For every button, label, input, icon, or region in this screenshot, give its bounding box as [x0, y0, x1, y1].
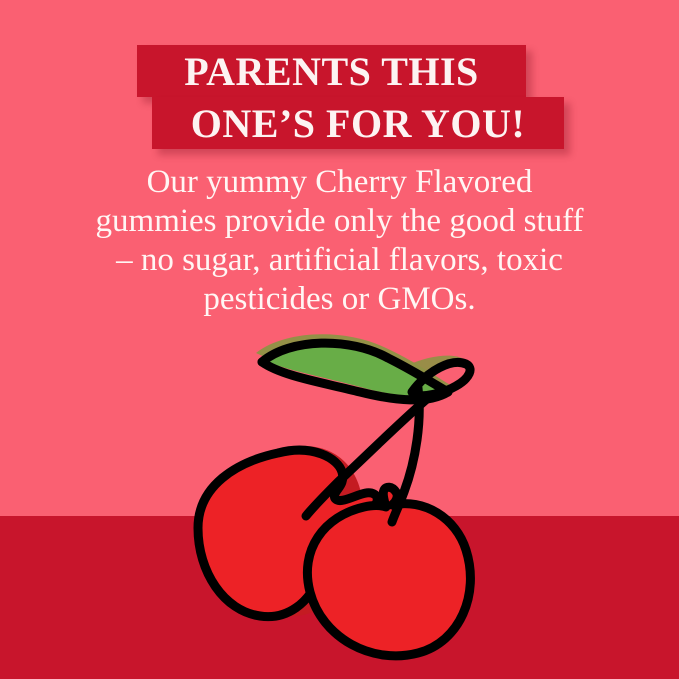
body-paragraph: Our yummy Cherry Flavored gummies provid…: [76, 163, 603, 319]
cherries-svg: [160, 320, 520, 679]
headline-text-line-1: PARENTS THIS: [184, 48, 479, 95]
headline-text-line-2: ONE’S FOR YOU!: [191, 100, 525, 147]
headline-banner-line-2: ONE’S FOR YOU!: [152, 97, 564, 149]
cherries-illustration: [160, 320, 520, 679]
body-line-3: – no sugar, artificial flavors, toxic: [76, 241, 603, 280]
body-line-4: pesticides or GMOs.: [76, 280, 603, 319]
body-line-1: Our yummy Cherry Flavored: [76, 163, 603, 202]
promo-poster: PARENTS THIS ONE’S FOR YOU! Our yummy Ch…: [0, 0, 679, 679]
headline-banner-line-1: PARENTS THIS: [137, 45, 526, 97]
body-line-2: gummies provide only the good stuff: [76, 202, 603, 241]
